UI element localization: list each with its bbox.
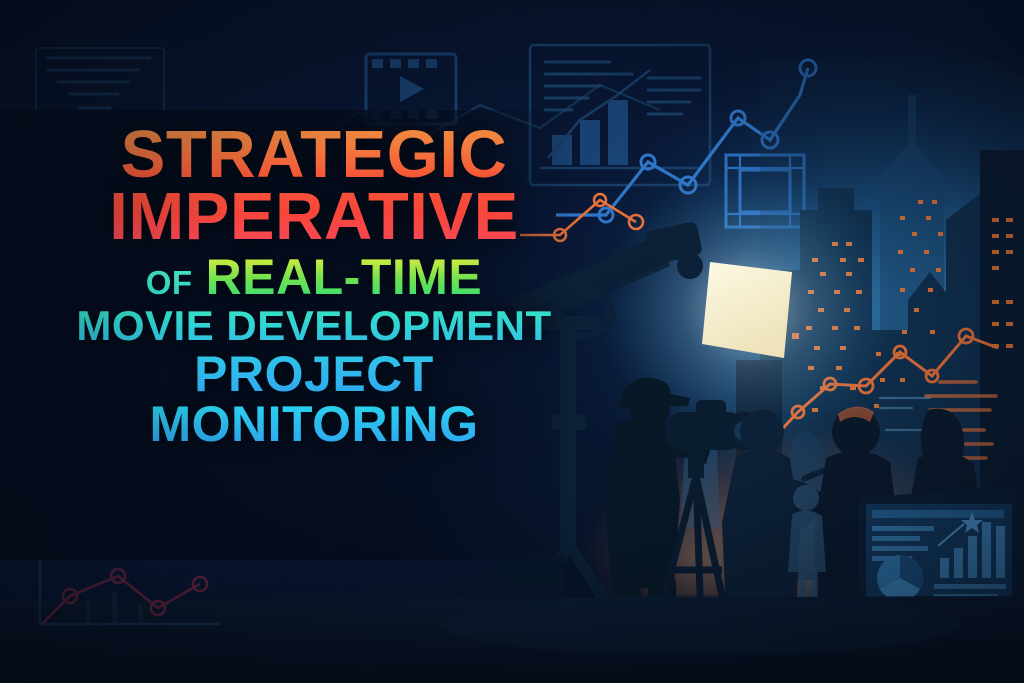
poster-canvas: STRATEGIC IMPERATIVE OF REAL-TIME MOVIE … xyxy=(0,0,1024,683)
softbox-light xyxy=(702,262,792,358)
headline-scrim xyxy=(0,110,580,560)
scene-illustration xyxy=(0,0,1024,683)
laptop-pie-chart xyxy=(877,555,923,601)
